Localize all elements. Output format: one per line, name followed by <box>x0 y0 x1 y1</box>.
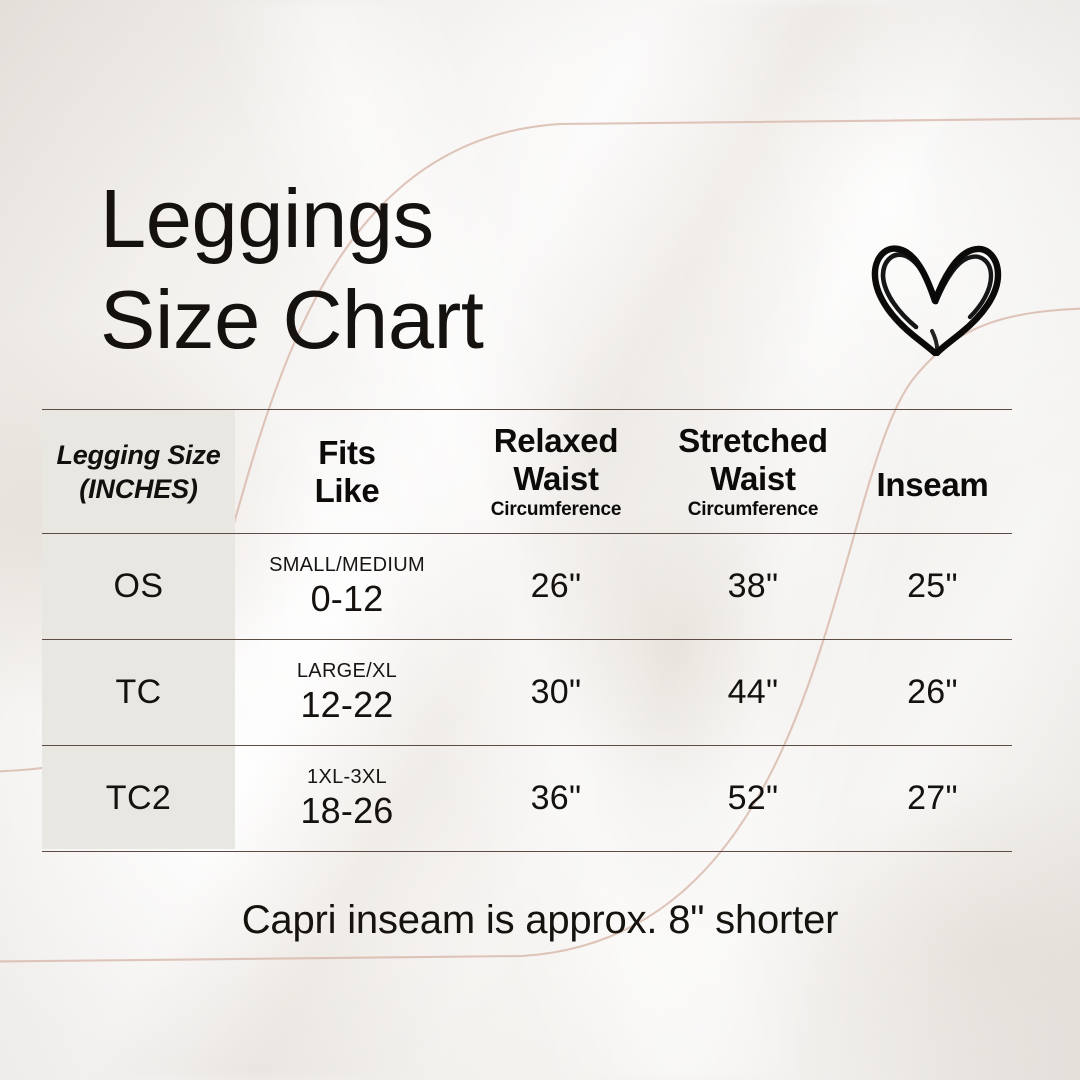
fits-like-label: 1XL-3XL <box>235 765 459 789</box>
table-row: TC2 1XL-3XL 18-26 36" 52" 27" <box>42 746 1012 852</box>
stretched-waist-line-1: Stretched <box>653 422 853 460</box>
table-row: TC LARGE/XL 12-22 30" 44" 26" <box>42 640 1012 746</box>
cell-fits-like: SMALL/MEDIUM 0-12 <box>235 534 459 640</box>
table-row: OS SMALL/MEDIUM 0-12 26" 38" 25" <box>42 534 1012 640</box>
legging-size-main: Legging Size <box>42 438 235 472</box>
column-header-relaxed-waist: Relaxed Waist Circumference <box>459 410 653 534</box>
title-line-1: Leggings <box>100 168 740 269</box>
fits-like-range: 18-26 <box>235 790 459 832</box>
title-line-2: Size Chart <box>100 269 740 370</box>
page-title: Leggings Size Chart <box>100 168 740 370</box>
fits-like-range: 12-22 <box>235 684 459 726</box>
column-header-legging-size: Legging Size (INCHES) <box>42 410 235 534</box>
inseam-label: Inseam <box>853 440 1012 504</box>
cell-stretched-waist: 38" <box>653 534 853 640</box>
stretched-waist-line-2: Waist <box>653 460 853 498</box>
table-header-row: Legging Size (INCHES) Fits Like Relaxed … <box>42 410 1012 534</box>
cell-inseam: 25" <box>853 534 1012 640</box>
cell-legging-size: OS <box>42 534 235 640</box>
cell-fits-like: LARGE/XL 12-22 <box>235 640 459 746</box>
cell-relaxed-waist: 30" <box>459 640 653 746</box>
size-chart-poster: Leggings Size Chart Legging Size (INCHES… <box>0 0 1080 1080</box>
fits-like-line-1: Fits <box>235 434 459 472</box>
heart-doodle-icon <box>866 228 1006 356</box>
relaxed-waist-line-1: Relaxed <box>459 422 653 460</box>
footnote-text: Capri inseam is approx. 8" shorter <box>0 898 1080 943</box>
cell-stretched-waist: 52" <box>653 746 853 852</box>
column-header-stretched-waist: Stretched Waist Circumference <box>653 410 853 534</box>
fits-like-range: 0-12 <box>235 578 459 620</box>
stretched-waist-sub: Circumference <box>653 499 853 521</box>
cell-inseam: 27" <box>853 746 1012 852</box>
relaxed-waist-line-2: Waist <box>459 460 653 498</box>
cell-inseam: 26" <box>853 640 1012 746</box>
fits-like-line-2: Like <box>235 472 459 510</box>
cell-relaxed-waist: 26" <box>459 534 653 640</box>
cell-fits-like: 1XL-3XL 18-26 <box>235 746 459 852</box>
column-header-fits-like: Fits Like <box>235 410 459 534</box>
size-chart-table: Legging Size (INCHES) Fits Like Relaxed … <box>42 409 1012 852</box>
cell-legging-size: TC <box>42 640 235 746</box>
cell-relaxed-waist: 36" <box>459 746 653 852</box>
cell-legging-size: TC2 <box>42 746 235 852</box>
column-header-inseam: Inseam <box>853 410 1012 534</box>
relaxed-waist-sub: Circumference <box>459 499 653 521</box>
legging-size-sub: (INCHES) <box>42 472 235 506</box>
fits-like-label: LARGE/XL <box>235 659 459 683</box>
fits-like-label: SMALL/MEDIUM <box>235 553 459 577</box>
cell-stretched-waist: 44" <box>653 640 853 746</box>
